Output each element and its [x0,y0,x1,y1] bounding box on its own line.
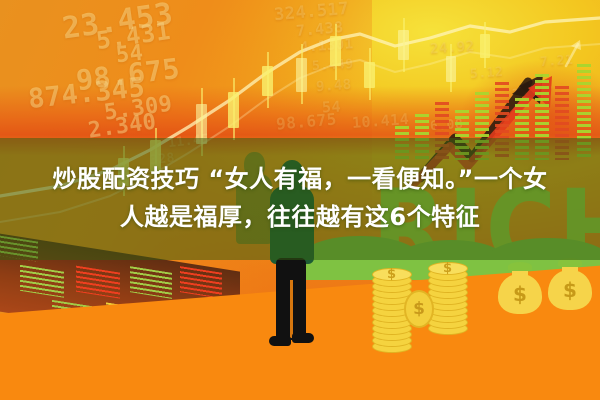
money-bag-1: $ [498,262,542,314]
candlestick-body [228,92,239,128]
candlestick-body [296,58,307,92]
candlestick-body [364,62,375,88]
candlestick-body [262,66,273,96]
coin-stack-right: $ [428,262,468,341]
caption-line-2: 人越是福厚，往往越有这6个特征 [120,204,480,232]
ticker-cell [20,265,64,298]
money-bag-2: $ [548,258,592,310]
standing-coin: $ [404,290,434,328]
caption-line-1: 炒股配资技巧 “女人有福，一看便知。”一个女 [53,166,548,194]
person-leg-gap [290,280,293,338]
candlestick-body [330,36,341,66]
caption-block: 炒股配资技巧 “女人有福，一看便知。”一个女 人越是福厚，往往越有这6个特征 [0,138,600,260]
ticker-cell [130,266,172,299]
bag-dollar-sign: $ [548,278,592,302]
banner-image: 23.4535.4315498.675874.3455.3092.340324.… [0,0,600,400]
bag-dollar-sign: $ [498,282,542,306]
person-shoe-left [269,336,291,346]
person-shoe-right [292,333,314,343]
ticker-cell [180,266,222,299]
ticker-cell [76,266,120,299]
coin-dollar-sign: $ [387,267,396,282]
coin-dollar-sign: $ [443,261,452,276]
bag-tie [508,262,532,271]
